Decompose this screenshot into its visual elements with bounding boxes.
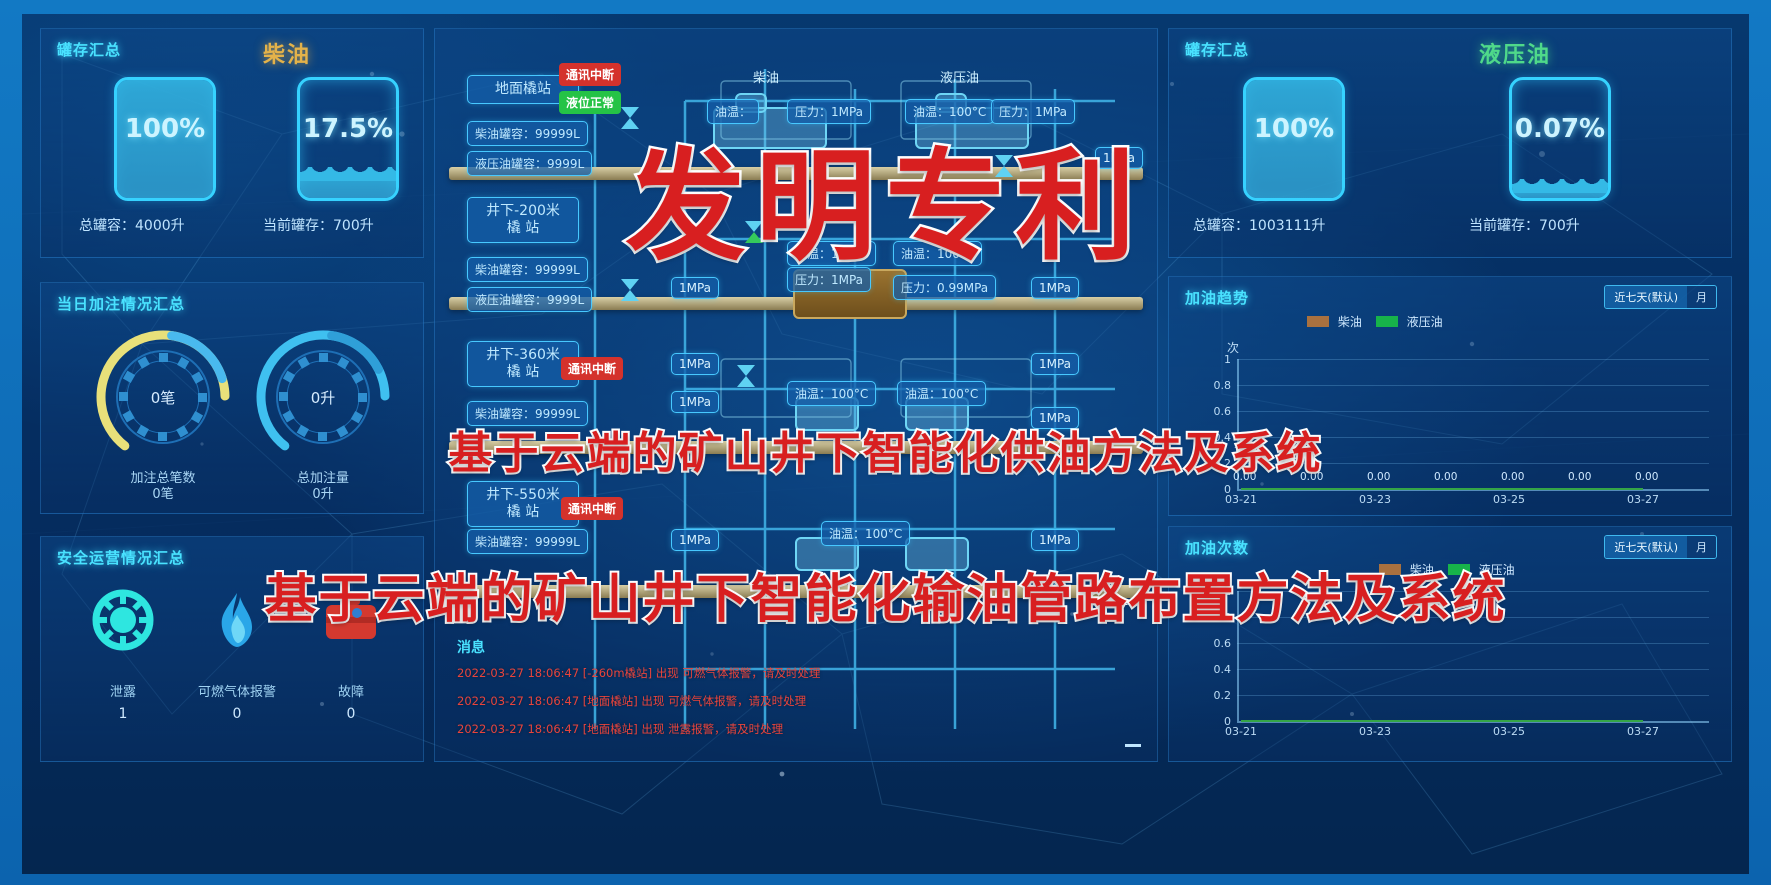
trend-legend-hydraulic: 液压油 <box>1376 313 1443 330</box>
ring-gauge-count-value: 0笔 <box>93 327 233 467</box>
count-xtick: 03-27 <box>1623 725 1663 738</box>
tank-gauge-current-hyd-value: 0.07% <box>1512 114 1608 144</box>
safety-item-gas-label: 可燃气体报警 <box>177 681 297 700</box>
diesel-oil-label: 柴油 <box>263 37 311 69</box>
count-xtick: 03-21 <box>1221 725 1261 738</box>
trend-range-selector[interactable]: 近七天(默认) 月 <box>1604 285 1717 309</box>
station-label-360m-line2: 橇 站 <box>478 364 568 381</box>
safety-item-fault-label: 故障 <box>291 681 411 700</box>
trend-range-week[interactable]: 近七天(默认) <box>1605 286 1687 308</box>
station-surface-diesel-capacity: 柴油罐容：99999L <box>467 121 588 146</box>
station-surface-level-status: 液位正常 <box>559 91 621 114</box>
station-label-200m[interactable]: 井下-200米 橇 站 <box>467 197 579 243</box>
refuel-volume-label-line1: 总加注量 <box>233 471 413 487</box>
dashboard-screen: 罐存汇总 柴油 100% 17.5% 总罐容：4000升 当前罐存：700升 当… <box>22 14 1749 874</box>
refuel-volume-label: 总加注量 0升 <box>233 471 413 503</box>
ring-gauge-volume-value: 0升 <box>253 327 393 467</box>
corner-decor <box>1706 232 1732 258</box>
tank-head-label-hydraulic: 液压油 <box>940 67 979 86</box>
leak-gear-icon <box>92 589 154 651</box>
station-label-550m-line2: 橇 站 <box>478 504 568 521</box>
panel-title: 加油次数 <box>1185 537 1249 558</box>
refuel-count-label-line1: 加注总笔数 <box>73 471 253 487</box>
trend-xtick: 03-23 <box>1355 493 1395 506</box>
pressure-tag-6: 1MPa <box>671 391 719 413</box>
corner-decor <box>40 736 66 762</box>
count-xtick: 03-23 <box>1355 725 1395 738</box>
safety-item-leak-label: 泄露 <box>63 681 183 700</box>
trend-range-month[interactable]: 月 <box>1687 286 1716 308</box>
panel-title: 罐存汇总 <box>1185 39 1249 60</box>
corner-decor <box>1706 28 1732 54</box>
count-range-month[interactable]: 月 <box>1687 536 1716 558</box>
trend-legend-diesel-label: 柴油 <box>1338 315 1362 329</box>
count-xtick: 03-25 <box>1489 725 1529 738</box>
station-label-200m-line2: 橇 站 <box>478 220 568 237</box>
trend-xtick: 03-25 <box>1489 493 1529 506</box>
watermark-subtitle-1: 基于云端的矿山井下智能化供油方法及系统 <box>449 417 1323 481</box>
count-range-selector[interactable]: 近七天(默认) 月 <box>1604 535 1717 559</box>
pressure-tag-9: 1MPa <box>1031 529 1079 551</box>
ring-gauge-count: 0笔 <box>93 327 233 467</box>
message-log-line: 2022-03-27 18:06:47 [-260m橇站] 出现 可燃气体报警，… <box>457 665 820 681</box>
station-label-360m-line1: 井下-360米 <box>478 347 568 364</box>
trend-xtick: 03-21 <box>1221 493 1261 506</box>
refuel-count-label-line2: 0笔 <box>73 487 253 503</box>
message-log-title: 消息 <box>457 637 485 657</box>
tank-wave-current-hyd <box>1509 179 1611 193</box>
flame-icon <box>206 589 268 651</box>
corner-decor <box>1168 232 1194 258</box>
valve-triangle-up <box>737 376 755 387</box>
corner-decor <box>398 736 424 762</box>
corner-decor <box>40 488 66 514</box>
readout-temp-5: 油温：100°C <box>787 381 876 406</box>
station-label-550m-line1: 井下-550米 <box>478 487 568 504</box>
trend-xtick: 03-27 <box>1623 493 1663 506</box>
trend-legend-hydraulic-label: 液压油 <box>1407 315 1443 329</box>
tank-gauge-total-value: 100% <box>117 114 213 144</box>
ring-gauge-volume: 0升 <box>253 327 393 467</box>
panel-title: 加油趋势 <box>1185 287 1249 308</box>
tank-gauge-total-hyd-value: 100% <box>1246 114 1342 144</box>
panel-title: 罐存汇总 <box>57 39 121 60</box>
total-capacity-label-hyd: 总罐容：1003111升 <box>1193 215 1325 235</box>
readout-temp-6: 油温：100°C <box>897 381 986 406</box>
station-550m-diesel-capacity: 柴油罐容：99999L <box>467 529 588 554</box>
station-200m-diesel-capacity: 柴油罐容：99999L <box>467 257 588 282</box>
panel-tank-summary-diesel: 罐存汇总 柴油 100% 17.5% 总罐容：4000升 当前罐存：700升 <box>40 28 424 258</box>
station-360m-comm-status: 通讯中断 <box>561 357 623 380</box>
tank-gauge-current: 17.5% <box>297 77 399 201</box>
station-label-200m-line1: 井下-200米 <box>478 203 568 220</box>
valve-triangle-down <box>737 365 755 376</box>
tank-gauge-total: 100% <box>114 77 216 201</box>
station-surface-comm-status: 通讯中断 <box>559 63 621 86</box>
total-capacity-label: 总罐容：4000升 <box>79 215 185 235</box>
collapse-minus-icon[interactable] <box>1125 744 1141 747</box>
trend-legend-diesel: 柴油 <box>1307 313 1362 330</box>
current-stock-label: 当前罐存：700升 <box>263 215 374 235</box>
legend-swatch-diesel <box>1307 316 1329 327</box>
pressure-tag-4: 1MPa <box>671 353 719 375</box>
corner-decor <box>40 232 66 258</box>
dashboard-root: 罐存汇总 柴油 100% 17.5% 总罐容：4000升 当前罐存：700升 当… <box>0 0 1771 885</box>
safety-item-fault-value: 0 <box>291 706 411 722</box>
pressure-tag-8: 1MPa <box>671 529 719 551</box>
count-range-week[interactable]: 近七天(默认) <box>1605 536 1687 558</box>
trend-legend: 柴油 液压油 <box>1307 313 1443 330</box>
tank-head-label-diesel: 柴油 <box>753 67 779 86</box>
tank-wave-current <box>297 167 399 181</box>
refuel-count-label: 加注总笔数 0笔 <box>73 471 253 503</box>
corner-decor <box>398 232 424 258</box>
watermark-subtitle-2: 基于云端的矿山井下智能化输油管路布置方法及系统 <box>264 557 1506 632</box>
message-log-line: 2022-03-27 18:06:47 [地面橇站] 出现 可燃气体报警，请及时… <box>457 693 806 709</box>
tank-gauge-total-hyd: 100% <box>1243 77 1345 201</box>
tank-gauge-current-hyd: 0.07% <box>1509 77 1611 201</box>
safety-item-gas-value: 0 <box>177 706 297 722</box>
safety-item-leak[interactable]: 泄露 1 <box>63 589 183 722</box>
corner-decor <box>398 28 424 54</box>
valve-triangle-up <box>621 290 639 301</box>
pressure-tag-5: 1MPa <box>1031 353 1079 375</box>
watermark-patent-title: 发明专利 <box>626 109 1146 283</box>
corner-decor <box>398 282 424 308</box>
corner-decor <box>1168 490 1194 516</box>
panel-title: 安全运营情况汇总 <box>57 547 185 568</box>
station-200m-hyd-capacity: 液压油罐容：9999L <box>467 287 592 312</box>
panel-today-refuel: 当日加注情况汇总 <box>40 282 424 514</box>
legend-swatch-hydraulic <box>1376 316 1398 327</box>
refuel-volume-label-line2: 0升 <box>233 487 413 503</box>
readout-temp-7: 油温：100°C <box>821 521 910 546</box>
hydraulic-oil-label: 液压油 <box>1479 37 1551 69</box>
corner-decor <box>1168 736 1194 762</box>
station-surface-hyd-capacity: 液压油罐容：9999L <box>467 151 592 176</box>
current-stock-label-hyd: 当前罐存：700升 <box>1469 215 1580 235</box>
panel-tank-summary-hydraulic: 罐存汇总 液压油 100% 0.07% 总罐容：1003111升 当前罐存：70… <box>1168 28 1732 258</box>
safety-item-leak-value: 1 <box>63 706 183 722</box>
panel-title: 当日加注情况汇总 <box>57 293 185 314</box>
station-550m-comm-status: 通讯中断 <box>561 497 623 520</box>
tank-gauge-current-value: 17.5% <box>300 114 396 144</box>
message-log-line: 2022-03-27 18:06:47 [地面橇站] 出现 泄露报警，请及时处理 <box>457 721 783 737</box>
